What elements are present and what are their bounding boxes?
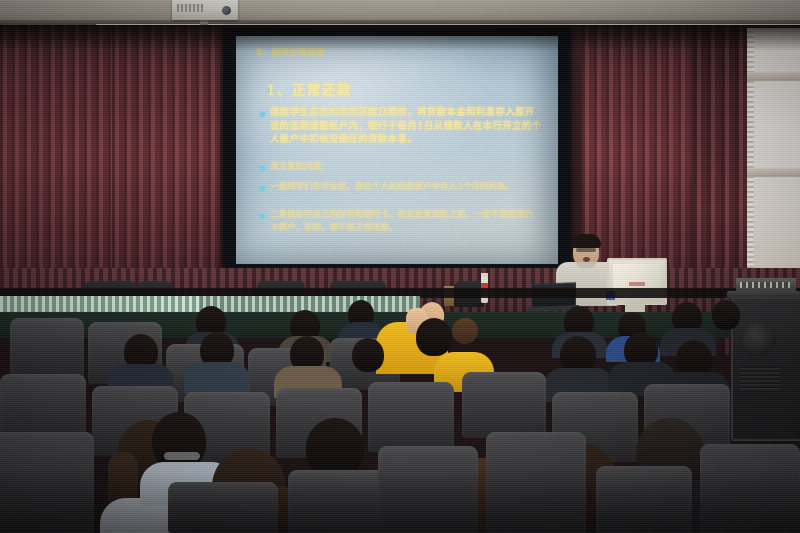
lecture-hall-photo: 5、如何办理还款 1、正常还款 借款学生应在约定的还款日期前，将贷款本金和利息存… — [0, 0, 800, 533]
projector-icon — [172, 0, 238, 20]
presenter-glasses-icon — [576, 248, 596, 252]
projector-lens-icon — [222, 6, 231, 15]
speaker-cone-icon — [742, 322, 776, 356]
projection-screen: 5、如何办理还款 1、正常还款 借款学生应在约定的还款日期前，将贷款本金和利息存… — [236, 36, 558, 264]
auditorium-seat[interactable] — [10, 318, 84, 380]
upper-shadow — [0, 25, 800, 51]
attendee-head — [306, 418, 364, 478]
auditorium-seat[interactable] — [368, 382, 454, 452]
monitor-screen-mark — [629, 282, 645, 286]
screen-edge-shading — [236, 36, 558, 264]
window-mullion-upper — [742, 72, 800, 81]
mixer-knobs — [740, 282, 790, 288]
speaker-grill — [740, 366, 780, 390]
auditorium-seat[interactable] — [462, 372, 546, 438]
presenter-collar — [576, 262, 596, 268]
window-mullion-lower — [742, 168, 800, 177]
attendee-brown-hair — [452, 318, 478, 344]
projector-vent — [177, 4, 203, 12]
ceiling — [0, 0, 800, 22]
presenter-hair — [571, 234, 601, 248]
curtain-left — [0, 25, 112, 307]
curtain-mid-left — [112, 25, 220, 307]
foreground-shadow — [0, 470, 800, 533]
monitor-stand — [625, 300, 645, 312]
attendee-head — [352, 338, 384, 372]
attendee-head — [416, 318, 452, 356]
attendee-shoulders — [184, 362, 250, 394]
attendee-head — [712, 300, 740, 330]
attendee-glasses-icon — [164, 452, 200, 460]
